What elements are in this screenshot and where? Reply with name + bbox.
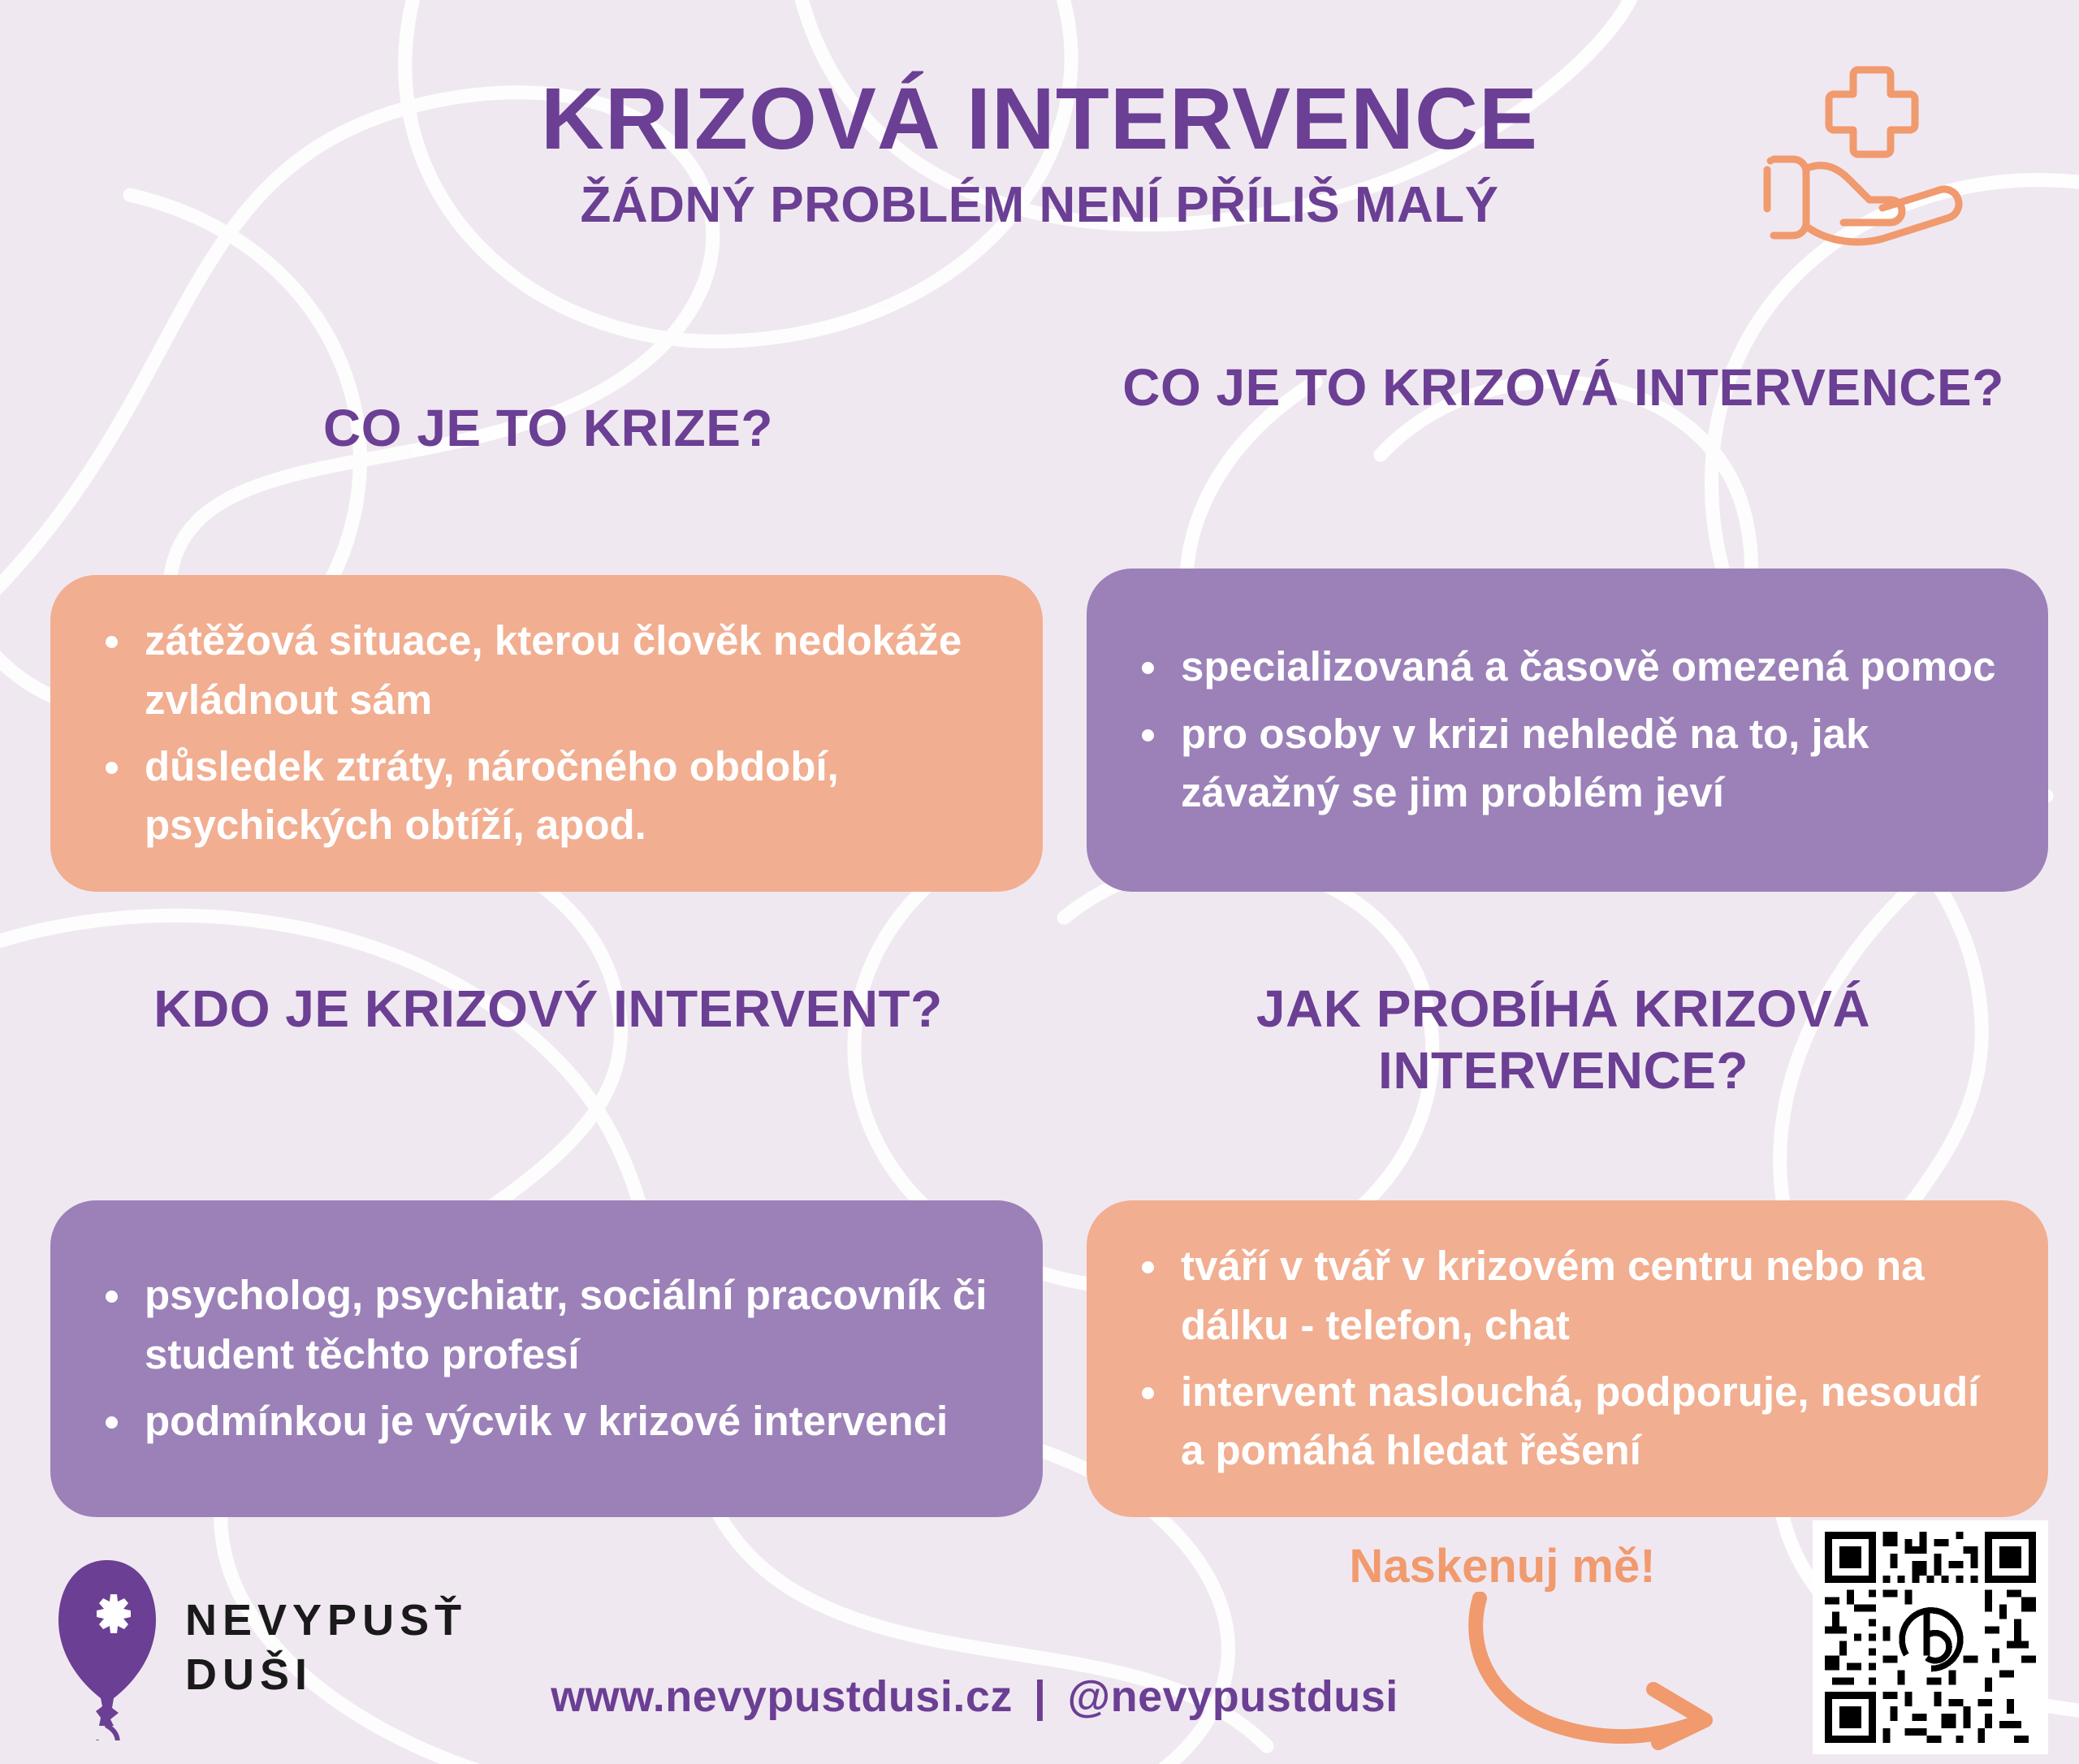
- footer-separator: |: [1013, 1671, 1068, 1722]
- list-item: pro osoby v krizi nehledě na to, jak záv…: [1130, 705, 2004, 823]
- content-card-prubeh: tváří v tvář v krizovém centru nebo na d…: [1087, 1200, 2048, 1517]
- list-item: intervent naslouchá, podporuje, nesoudí …: [1130, 1363, 2004, 1481]
- balloon-icon: [50, 1555, 164, 1740]
- section-heading-krizovy-intervent: KDO JE KRIZOVÝ INTERVENT?: [49, 979, 1048, 1040]
- list-item: psycholog, psychiatr, sociální pracovník…: [94, 1266, 999, 1384]
- bullet-list: psycholog, psychiatr, sociální pracovník…: [94, 1266, 999, 1451]
- footer-links: www.nevypustdusi.cz|@nevypustdusi: [487, 1671, 1462, 1722]
- section-heading-krizova-intervence: CO JE TO KRIZOVÁ INTERVENCE?: [1080, 357, 2047, 419]
- social-handle-link[interactable]: @nevypustdusi: [1068, 1672, 1398, 1721]
- bullet-list: tváří v tvář v krizovém centru nebo na d…: [1130, 1237, 2004, 1481]
- list-item: důsledek ztráty, náročného období, psych…: [94, 737, 999, 855]
- website-link[interactable]: www.nevypustdusi.cz: [551, 1672, 1013, 1721]
- poster-stage: KRIZOVÁ INTERVENCE ŽÁDNÝ PROBLÉM NENÍ PŘ…: [0, 0, 2079, 1764]
- hand-holding-medical-cross-icon: [1762, 57, 1982, 252]
- list-item: podmínkou je výcvik v krizové intervenci: [94, 1392, 999, 1451]
- list-item: zátěžová situace, kterou člověk nedokáže…: [94, 612, 999, 729]
- section-heading-prubeh: JAK PROBÍHÁ KRIZOVÁ INTERVENCE?: [1080, 979, 2047, 1101]
- logo-line-1: NEVYPUSŤ: [185, 1593, 467, 1648]
- bullet-list: zátěžová situace, kterou člověk nedokáže…: [94, 612, 999, 855]
- bullet-list: specializovaná a časově omezená pomoc pr…: [1130, 638, 2004, 822]
- section-heading-krize: CO JE TO KRIZE?: [49, 398, 1048, 460]
- curved-arrow-icon: [1462, 1592, 1738, 1754]
- qr-code[interactable]: [1813, 1520, 2048, 1754]
- qr-code-image: [1824, 1532, 2037, 1743]
- content-card-krizova-intervence: specializovaná a časově omezená pomoc pr…: [1087, 569, 2048, 892]
- logo-line-2: DUŠI: [185, 1648, 467, 1702]
- content-card-krizovy-intervent: psycholog, psychiatr, sociální pracovník…: [50, 1200, 1043, 1517]
- scan-me-label: Naskenuj mě!: [1275, 1539, 1730, 1593]
- list-item: specializovaná a časově omezená pomoc: [1130, 638, 2004, 696]
- list-item: tváří v tvář v krizovém centru nebo na d…: [1130, 1237, 2004, 1355]
- content-card-krize: zátěžová situace, kterou člověk nedokáže…: [50, 575, 1043, 892]
- logo-wordmark: NEVYPUSŤ DUŠI: [185, 1593, 467, 1702]
- brand-logo: NEVYPUSŤ DUŠI: [50, 1555, 467, 1740]
